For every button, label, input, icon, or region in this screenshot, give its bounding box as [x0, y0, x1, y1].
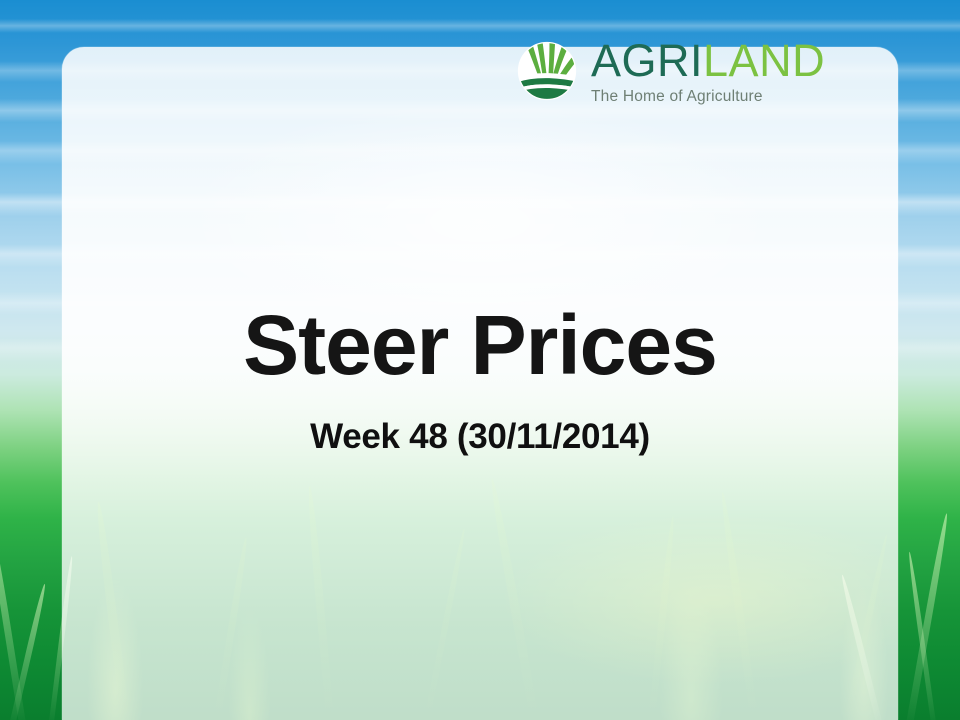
wordmark-agri: AGRI [591, 35, 703, 86]
wordmark-line: AGRILAND [591, 38, 825, 83]
grass-blade-faded [306, 486, 335, 720]
grass-blade-faded [94, 501, 131, 720]
grass-blade-faded [719, 492, 760, 720]
agriland-logo: AGRILAND The Home of Agriculture [516, 38, 825, 105]
grass-blade-faded [212, 537, 249, 720]
grass-blade-faded [647, 516, 676, 720]
slide-title: Steer Prices [0, 300, 960, 391]
grass-blade-faded [422, 528, 467, 720]
slide-subtitle: Week 48 (30/11/2014) [0, 417, 960, 457]
title-block: Steer Prices Week 48 (30/11/2014) [0, 300, 960, 457]
agriland-wordmark: AGRILAND The Home of Agriculture [591, 38, 825, 105]
presentation-slide: AGRILAND The Home of Agriculture Steer P… [0, 0, 960, 720]
grass-blade-faded [842, 534, 889, 720]
agriland-field-circle-icon [516, 40, 578, 102]
brand-tagline: The Home of Agriculture [591, 89, 825, 105]
grass-blade-faded [488, 478, 541, 720]
wordmark-land: LAND [703, 35, 825, 86]
